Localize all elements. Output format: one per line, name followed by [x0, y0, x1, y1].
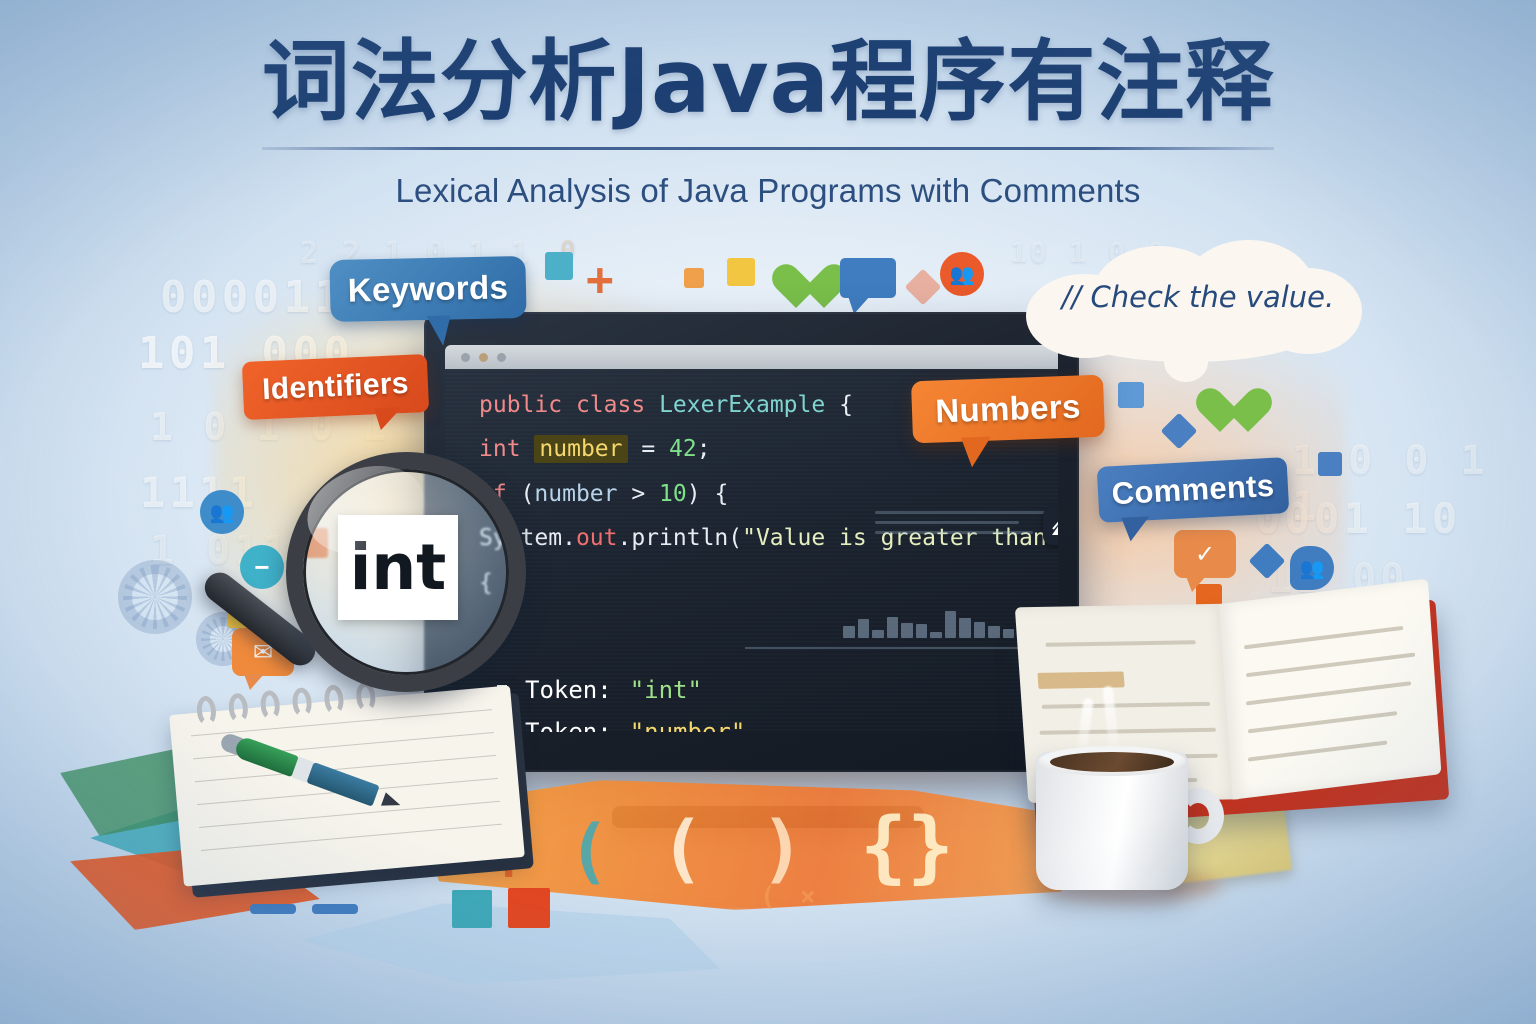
- coffee-surface: [1050, 752, 1174, 772]
- code-token: number: [534, 435, 627, 463]
- magnifier[interactable]: int: [286, 452, 526, 692]
- check-bubble-icon: ✓: [1174, 530, 1236, 578]
- book-line: [1039, 728, 1215, 735]
- window-dot[interactable]: [479, 353, 488, 362]
- label-numbers-text: Numbers: [935, 387, 1082, 430]
- label-identifiers[interactable]: Identifiers: [242, 354, 429, 420]
- decor-square: [545, 252, 573, 280]
- code-line: if (number > 10) {: [479, 472, 1048, 516]
- decor-blob-blue: [300, 900, 720, 984]
- screen-decor-underline: [745, 647, 1058, 649]
- token-label: Token:: [525, 718, 612, 732]
- paren-symbol: (: [760, 882, 776, 912]
- token-value: "int": [630, 676, 702, 704]
- title-block: 词法分析Java程序有注释 Lexical Analysis of Java P…: [0, 34, 1536, 210]
- poster-canvas: 00001101 101 000 2 2 1 0 1 1 1 0 1 0 1 1…: [0, 0, 1536, 1024]
- code-token: LexerExample: [659, 392, 825, 418]
- code-token: =: [628, 436, 670, 462]
- decor-dash: [312, 904, 358, 914]
- code-token: number: [534, 481, 617, 507]
- decor-dash: [250, 904, 296, 914]
- speech-bubble-icon: [840, 258, 896, 298]
- window-dot[interactable]: [497, 353, 506, 362]
- code-token: [562, 392, 576, 418]
- comment-cloud-bubble[interactable]: // Check the value.: [1004, 238, 1372, 362]
- coffee-mug: [1036, 740, 1212, 890]
- code-token: ;: [697, 436, 711, 462]
- decor-square: [727, 258, 755, 286]
- cloud-tail: [1164, 342, 1208, 382]
- people-icon: 👥: [940, 252, 984, 296]
- book-line: [1246, 681, 1411, 705]
- heart-icon: [1196, 388, 1248, 436]
- book-highlight: [1037, 671, 1124, 688]
- screen-decor-lines: [875, 511, 1050, 541]
- book-line: [1248, 711, 1397, 733]
- chart-trend-icon[interactable]: [1043, 507, 1058, 545]
- gear-icon: [118, 560, 192, 634]
- token-value: "number": [630, 718, 746, 732]
- code-token: ) {: [687, 481, 729, 507]
- decor-square: [452, 890, 492, 928]
- book-line: [1042, 702, 1210, 709]
- window-dot[interactable]: [461, 353, 470, 362]
- title-divider: [262, 147, 1274, 150]
- code-token: out: [576, 525, 618, 551]
- label-comments-text: Comments: [1111, 468, 1275, 512]
- code-token: 10: [659, 481, 687, 507]
- book-line: [1045, 640, 1195, 647]
- label-keywords[interactable]: Keywords: [329, 256, 526, 322]
- asterisk-symbol: ×: [800, 882, 816, 912]
- code-token: .println(: [617, 525, 742, 551]
- page-title-chinese: 词法分析Java程序有注释: [0, 34, 1536, 129]
- label-keywords-text: Keywords: [347, 268, 508, 309]
- chart-trend-glyph: [1051, 516, 1058, 536]
- code-token: class: [576, 392, 645, 418]
- page-subtitle-english: Lexical Analysis of Java Programs with C…: [0, 172, 1536, 210]
- decor-square: [1318, 452, 1342, 476]
- code-line: {: [479, 561, 1048, 605]
- book-page-right: [1219, 579, 1441, 800]
- code-token: >: [618, 481, 660, 507]
- token-label: Token:: [525, 676, 612, 704]
- heart-icon: [772, 264, 824, 312]
- book-line: [1246, 653, 1415, 678]
- book-line: [1244, 626, 1403, 650]
- label-numbers[interactable]: Numbers: [911, 375, 1105, 444]
- minus-icon: −: [240, 545, 284, 589]
- book-line: [1248, 741, 1387, 762]
- people-icon: 👥: [200, 490, 244, 534]
- code-token: public: [479, 392, 562, 418]
- plus-symbol: +: [586, 252, 614, 306]
- code-token: [645, 392, 659, 418]
- label-comments[interactable]: Comments: [1097, 457, 1290, 523]
- code-token: {: [825, 392, 853, 418]
- decor-square: [508, 888, 550, 928]
- label-identifiers-text: Identifiers: [261, 367, 409, 407]
- decor-square: [684, 268, 704, 288]
- decor-square: [1118, 382, 1144, 408]
- window-title-bar: [445, 345, 1058, 369]
- paren-open-symbol: (: [568, 810, 610, 892]
- monitor-base: [612, 806, 924, 828]
- code-token: 42: [669, 436, 697, 462]
- comment-cloud-text: // Check the value.: [1048, 280, 1348, 314]
